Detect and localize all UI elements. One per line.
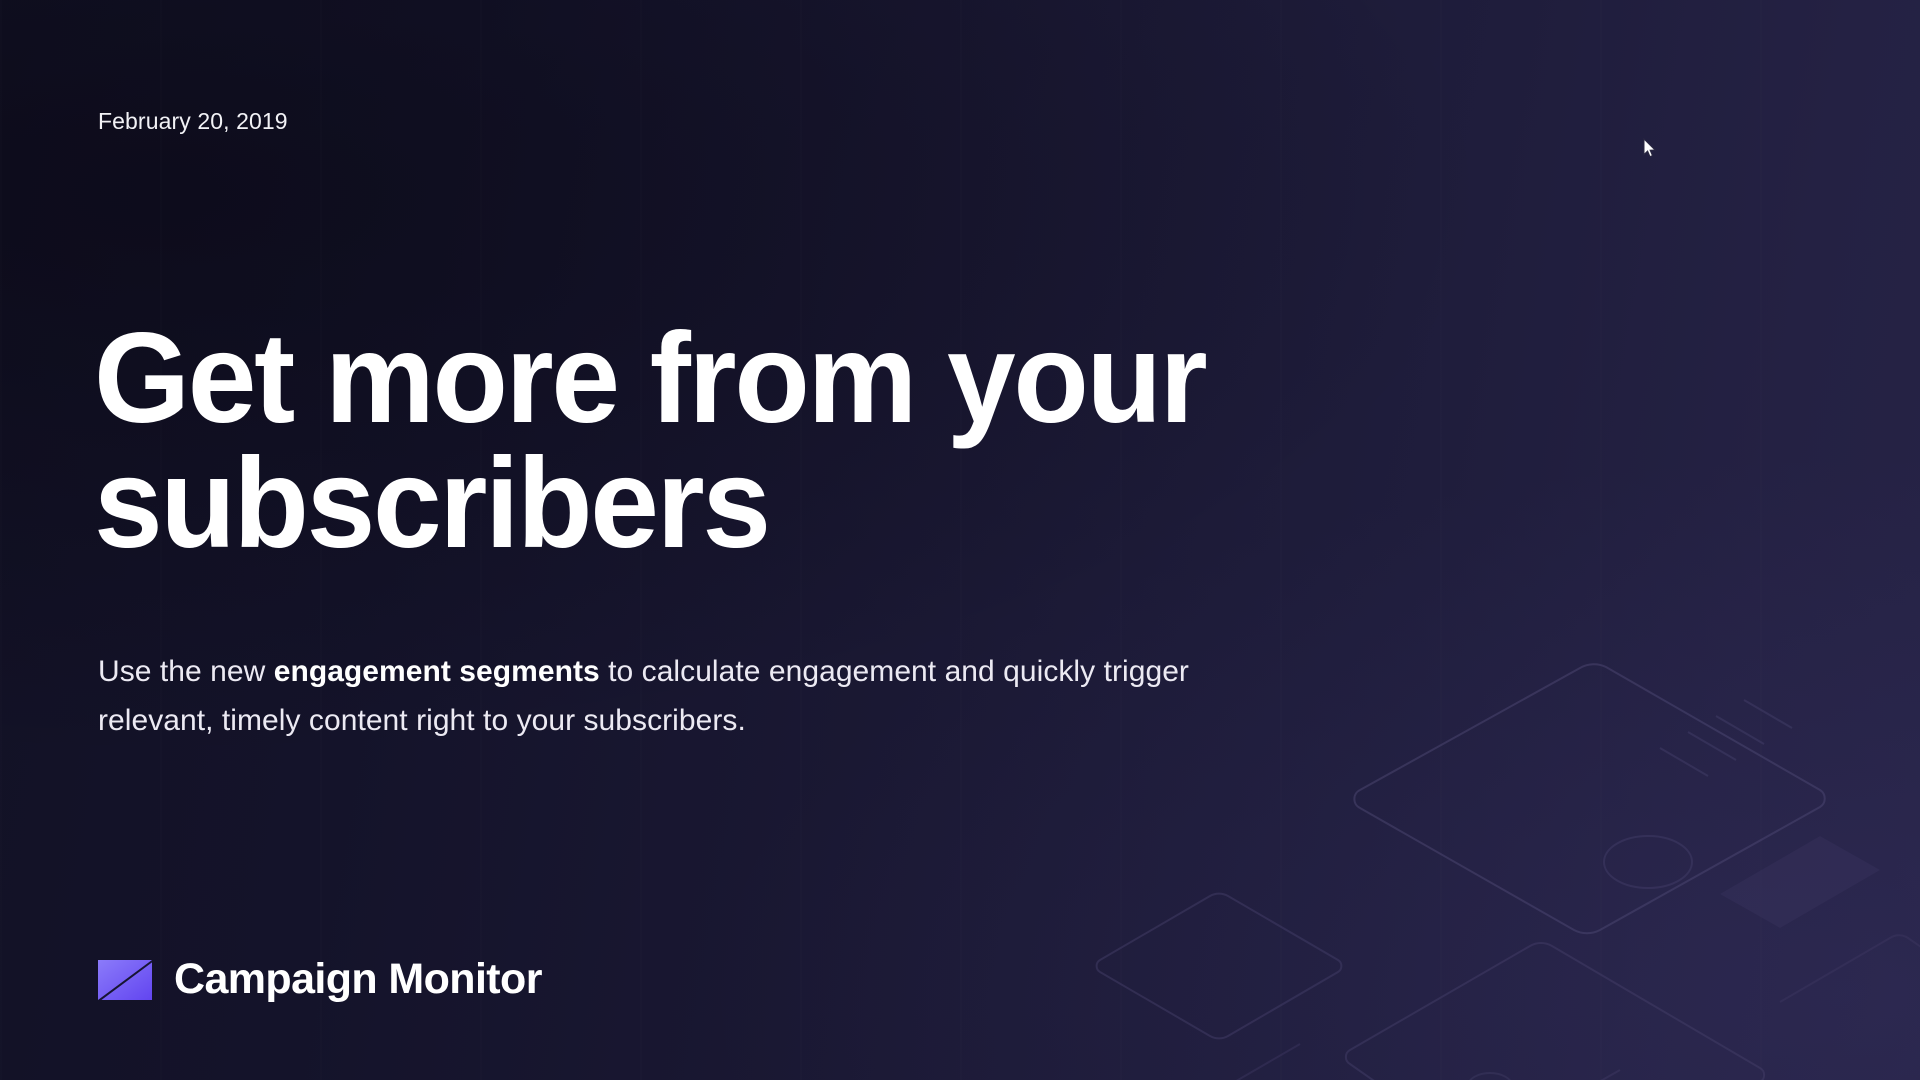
headline-line-2: subscribers bbox=[94, 432, 769, 575]
mouse-pointer-icon bbox=[1643, 138, 1657, 158]
slide-content: February 20, 2019 Get more from your sub… bbox=[98, 0, 1398, 1080]
presentation-slide: February 20, 2019 Get more from your sub… bbox=[0, 0, 1920, 1080]
brand-name: Campaign Monitor bbox=[174, 955, 542, 1004]
envelope-icon bbox=[98, 960, 152, 1000]
headline-line-1: Get more from your bbox=[94, 307, 1205, 450]
subheading-emphasis: engagement segments bbox=[274, 655, 600, 688]
slide-subheading: Use the new engagement segments to calcu… bbox=[98, 648, 1248, 745]
page-title: Get more from your subscribers bbox=[94, 316, 1310, 567]
slide-date: February 20, 2019 bbox=[98, 108, 288, 135]
brand-lockup: Campaign Monitor bbox=[98, 955, 542, 1004]
subheading-prefix: Use the new bbox=[98, 655, 274, 688]
